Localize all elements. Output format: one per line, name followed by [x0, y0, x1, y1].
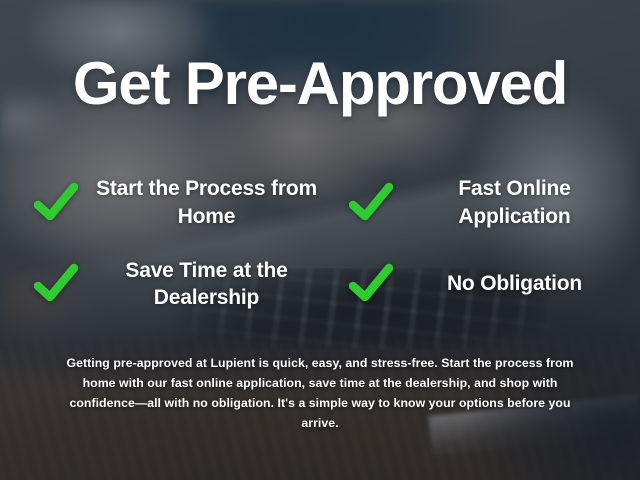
check-icon — [349, 262, 393, 306]
feature-label: No Obligation — [407, 270, 622, 297]
banner-content: Get Pre-Approved Start the Process from … — [0, 0, 640, 480]
feature-label: Start the Process from Home — [92, 175, 321, 230]
pre-approval-banner: Get Pre-Approved Start the Process from … — [0, 0, 640, 480]
check-icon — [34, 181, 78, 225]
page-title: Get Pre-Approved — [0, 52, 640, 115]
check-icon — [349, 181, 393, 225]
feature-item-fast-online-application: Fast Online Application — [335, 160, 622, 245]
feature-list: Start the Process from Home Fast Online … — [34, 160, 622, 323]
feature-item-start-process: Start the Process from Home — [34, 160, 321, 245]
body-paragraph: Getting pre-approved at Lupient is quick… — [52, 354, 588, 434]
check-icon — [34, 262, 78, 306]
feature-item-no-obligation: No Obligation — [335, 245, 622, 323]
feature-item-save-time: Save Time at the Dealership — [34, 245, 321, 323]
feature-label: Save Time at the Dealership — [92, 257, 321, 312]
feature-label: Fast Online Application — [407, 175, 622, 230]
